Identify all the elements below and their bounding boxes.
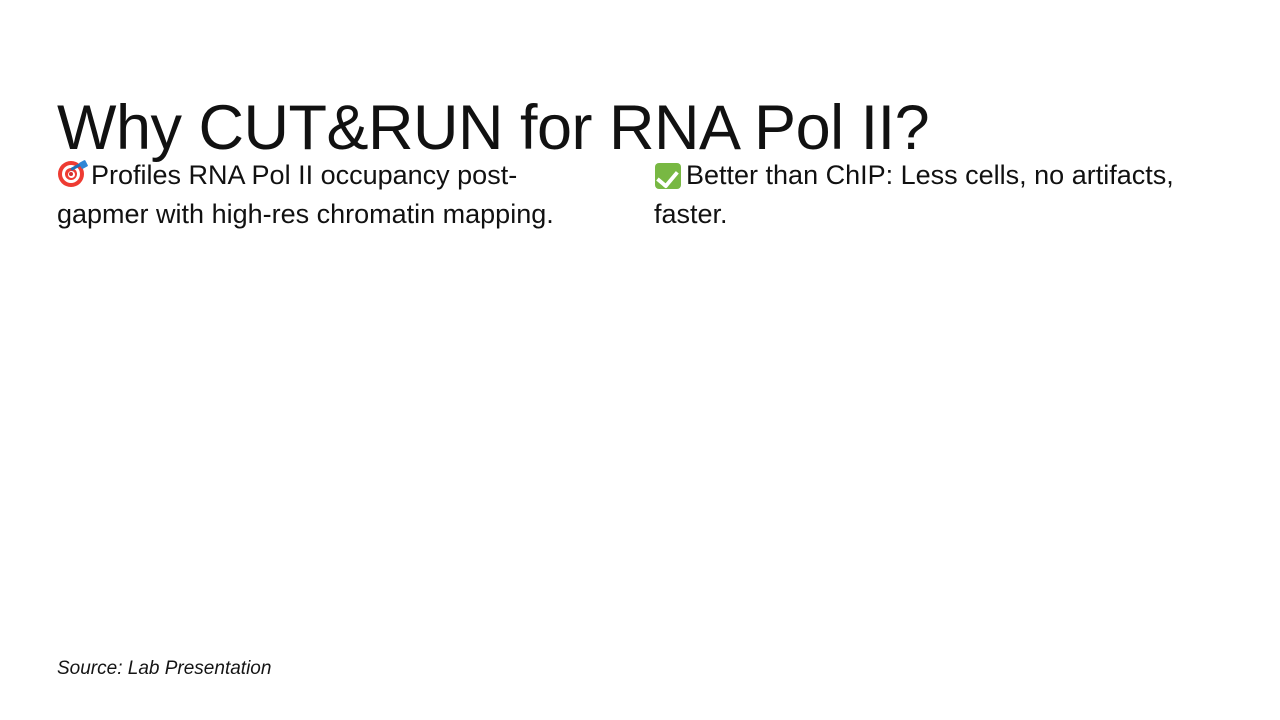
bullet-column-left: Profiles RNA Pol II occupancy post-gapme… <box>57 156 597 233</box>
bullet-text-right: Better than ChIP: Less cells, no artifac… <box>654 160 1174 229</box>
presentation-slide: Why CUT&RUN for RNA Pol II? Profiles RNA… <box>0 0 1280 720</box>
bullet-text-left: Profiles RNA Pol II occupancy post-gapme… <box>57 160 554 229</box>
page-title: Why CUT&RUN for RNA Pol II? <box>57 94 1217 162</box>
bullet-column-right: Better than ChIP: Less cells, no artifac… <box>654 156 1194 233</box>
target-icon <box>57 159 87 189</box>
source-note: Source: Lab Presentation <box>57 658 271 680</box>
check-mark-button-icon <box>654 161 682 189</box>
bullet-columns: Profiles RNA Pol II occupancy post-gapme… <box>57 156 1227 233</box>
